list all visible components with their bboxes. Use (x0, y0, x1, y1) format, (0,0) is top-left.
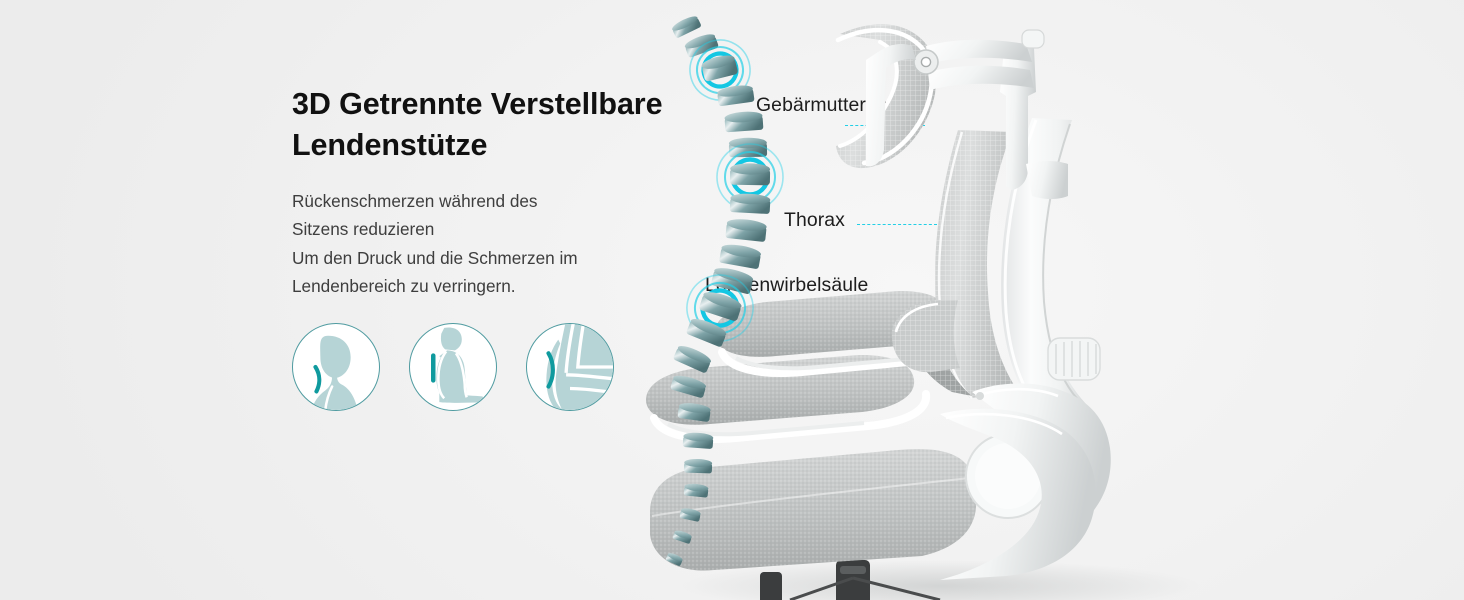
feature-icon-row (292, 323, 614, 411)
vertebra (719, 242, 762, 269)
vertebra (684, 459, 712, 474)
chair-illustration (640, 0, 1464, 600)
vertebra (670, 14, 701, 39)
lumbar-backrest-contact-icon (526, 323, 614, 411)
product-feature-banner: 3D Getrennte Verstellbare Lendenstütze R… (0, 0, 1464, 600)
vertebra (724, 111, 763, 133)
head-neck-profile-icon (292, 323, 380, 411)
headline-line-1: 3D Getrennte Verstellbare (292, 87, 662, 121)
tilt-tension-knob (1048, 338, 1100, 380)
headrest (836, 24, 937, 168)
vertebra (730, 193, 771, 214)
seated-torso-profile-icon (409, 323, 497, 411)
vertebra (725, 218, 767, 242)
headline-line-2: Lendenstütze (292, 128, 487, 162)
